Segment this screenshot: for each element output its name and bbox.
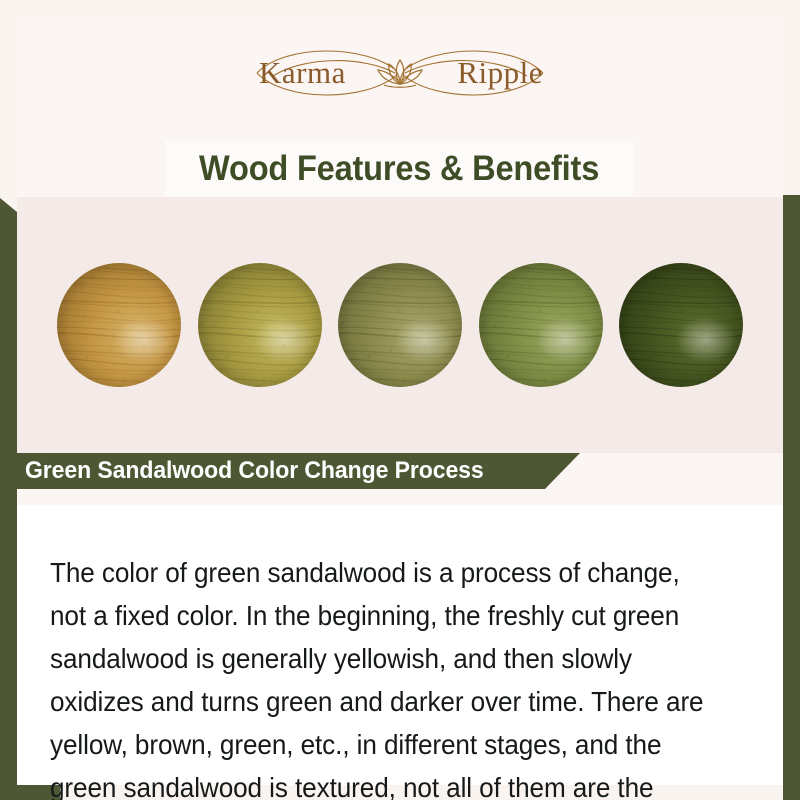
section-banner: Green Sandalwood Color Change Process bbox=[0, 453, 580, 489]
bead-specular-highlight bbox=[198, 263, 322, 387]
page-title-box: Wood Features & Benefits bbox=[165, 141, 633, 197]
infographic-page: Karma Ripple Wood Features & Benefits Gr… bbox=[0, 0, 800, 800]
bead-row bbox=[17, 197, 783, 453]
brand-logo: Karma Ripple bbox=[0, 34, 800, 112]
bead-stage-1 bbox=[57, 263, 181, 387]
bead-specular-highlight bbox=[57, 263, 181, 387]
bead-stage-4 bbox=[479, 263, 603, 387]
body-panel: The color of green sandalwood is a proce… bbox=[17, 505, 783, 785]
bead-specular-highlight bbox=[338, 263, 462, 387]
accent-bar-right bbox=[783, 195, 800, 800]
bead-stage-3 bbox=[338, 263, 462, 387]
logo-word-left: Karma bbox=[259, 55, 346, 91]
page-title: Wood Features & Benefits bbox=[199, 149, 599, 189]
body-paragraph: The color of green sandalwood is a proce… bbox=[50, 551, 715, 800]
accent-bar-left bbox=[0, 212, 17, 790]
section-banner-label: Green Sandalwood Color Change Process bbox=[0, 457, 484, 485]
bead-stage-2 bbox=[198, 263, 322, 387]
logo-word-right: Ripple bbox=[457, 55, 543, 91]
bead-photo-band bbox=[17, 197, 783, 453]
bead-specular-highlight bbox=[479, 263, 603, 387]
bead-specular-highlight bbox=[619, 263, 743, 387]
bead-stage-5 bbox=[619, 263, 743, 387]
